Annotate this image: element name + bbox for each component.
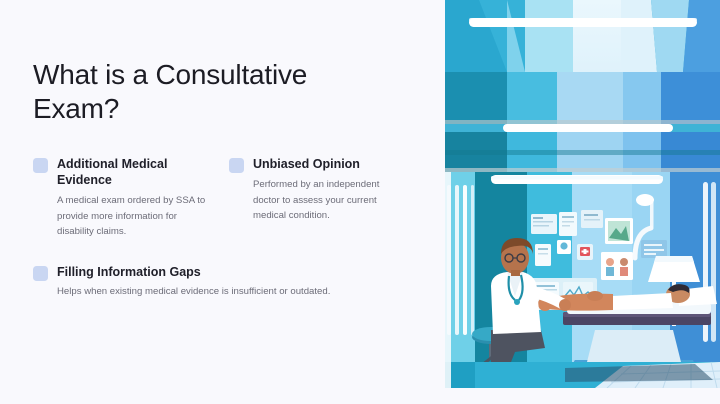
bullet-list: Additional Medical Evidence A medical ex… <box>33 156 427 299</box>
list-item-description: Performed by an independent doctor to as… <box>253 177 407 224</box>
doctor-examining-patient-illustration <box>445 0 720 388</box>
list-item: Unbiased Opinion Performed by an indepen… <box>229 156 407 240</box>
page-title: What is a Consultative Exam? <box>33 58 363 126</box>
list-item-body: Additional Medical Evidence A medical ex… <box>57 156 211 240</box>
square-marker-icon <box>33 158 48 173</box>
list-item-title: Filling Information Gaps <box>57 264 427 280</box>
slide: What is a Consultative Exam? Additional … <box>0 0 720 404</box>
square-marker-icon <box>229 158 244 173</box>
floor <box>445 362 720 388</box>
square-marker-icon <box>33 266 48 281</box>
list-item-description: A medical exam ordered by SSA to provide… <box>57 193 211 240</box>
content-panel: What is a Consultative Exam? Additional … <box>0 0 445 404</box>
list-item-title: Unbiased Opinion <box>253 156 407 172</box>
list-item-body: Filling Information Gaps Helps when exis… <box>57 264 427 300</box>
illustration-svg <box>445 0 720 388</box>
list-item: Additional Medical Evidence A medical ex… <box>33 156 211 240</box>
list-item: Filling Information Gaps Helps when exis… <box>33 264 427 300</box>
list-item-title: Additional Medical Evidence <box>57 156 211 188</box>
list-item-description: Helps when existing medical evidence is … <box>57 284 427 300</box>
list-item-body: Unbiased Opinion Performed by an indepen… <box>253 156 407 224</box>
